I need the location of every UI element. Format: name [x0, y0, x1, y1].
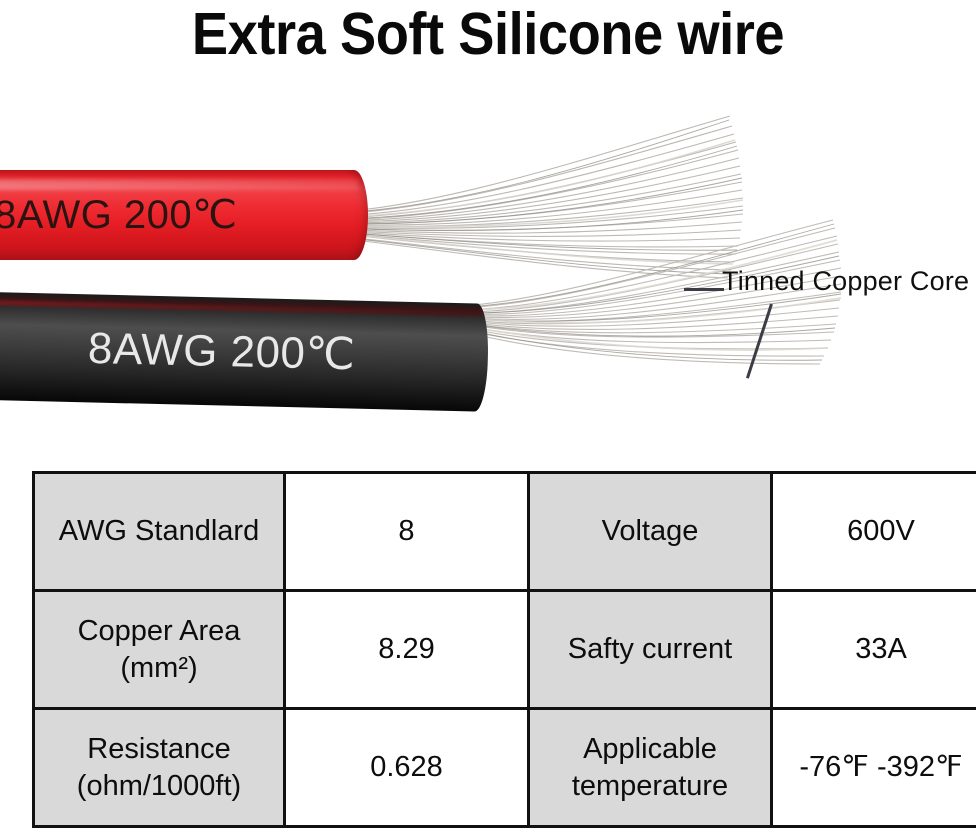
- spec-label-copper-area: Copper Area (mm²): [34, 591, 285, 709]
- red-wire-label: 8AWG 200℃: [0, 192, 238, 238]
- spec-label-voltage: Voltage: [529, 473, 772, 591]
- red-wire-insulation: 8AWG 200℃: [0, 170, 368, 260]
- spec-value-applicable-temperature: -76℉ -392℉: [772, 709, 976, 827]
- black-wire-label: 8AWG 200℃: [87, 323, 356, 380]
- spec-label-safety-current: Safty current: [529, 591, 772, 709]
- wire-illustration: 8AWG 200℃: [0, 80, 976, 450]
- red-wire-highlight: [0, 179, 358, 190]
- table-row: AWG Standlard 8 Voltage 600V: [34, 473, 976, 591]
- spec-value-safety-current: 33A: [772, 591, 976, 709]
- spec-value-copper-area: 8.29: [285, 591, 529, 709]
- spec-value-resistance: 0.628: [285, 709, 529, 827]
- table-row: Copper Area (mm²) 8.29 Safty current 33A: [34, 591, 976, 709]
- spec-value-voltage: 600V: [772, 473, 976, 591]
- spec-label-applicable-temperature: Applicable temperature: [529, 709, 772, 827]
- black-wire-strand-bundle: [455, 210, 845, 410]
- spec-label-awg-standard: AWG Standlard: [34, 473, 285, 591]
- page-title: Extra Soft Silicone wire: [39, 2, 937, 66]
- spec-value-awg-standard: 8: [285, 473, 529, 591]
- callout-leader-line-horizontal: [684, 288, 724, 291]
- tinned-copper-core-label: Tinned Copper Core: [722, 266, 969, 297]
- spec-label-resistance: Resistance (ohm/1000ft): [34, 709, 285, 827]
- table-row: Resistance (ohm/1000ft) 0.628 Applicable…: [34, 709, 976, 827]
- spec-table: AWG Standlard 8 Voltage 600V Copper Area…: [32, 471, 976, 828]
- black-wire-insulation: 8AWG 200℃: [0, 292, 489, 412]
